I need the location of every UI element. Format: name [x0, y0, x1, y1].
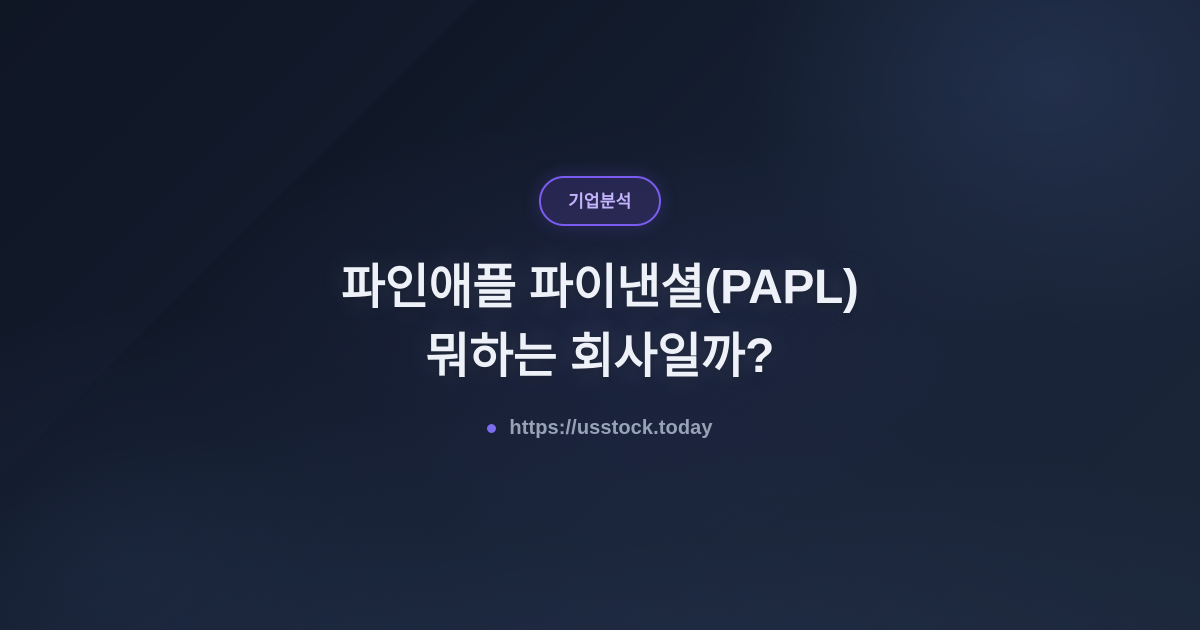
site-url-label: https://usstock.today [509, 417, 712, 440]
og-card: 기업분석 파인애플 파이낸셜(PAPL) 뭐하는 회사일까? https://u… [0, 0, 1200, 630]
page-title: 파인애플 파이낸셜(PAPL) 뭐하는 회사일까? [341, 254, 858, 390]
category-badge: 기업분석 [539, 176, 660, 226]
card-content: 기업분석 파인애플 파이낸셜(PAPL) 뭐하는 회사일까? https://u… [0, 0, 1200, 630]
site-url-row: https://usstock.today [487, 417, 712, 440]
page-title-line-2: 뭐하는 회사일까? [341, 323, 858, 391]
page-title-line-1: 파인애플 파이낸셜(PAPL) [341, 254, 858, 322]
category-badge-label: 기업분석 [568, 193, 631, 210]
dot-icon [487, 424, 496, 433]
